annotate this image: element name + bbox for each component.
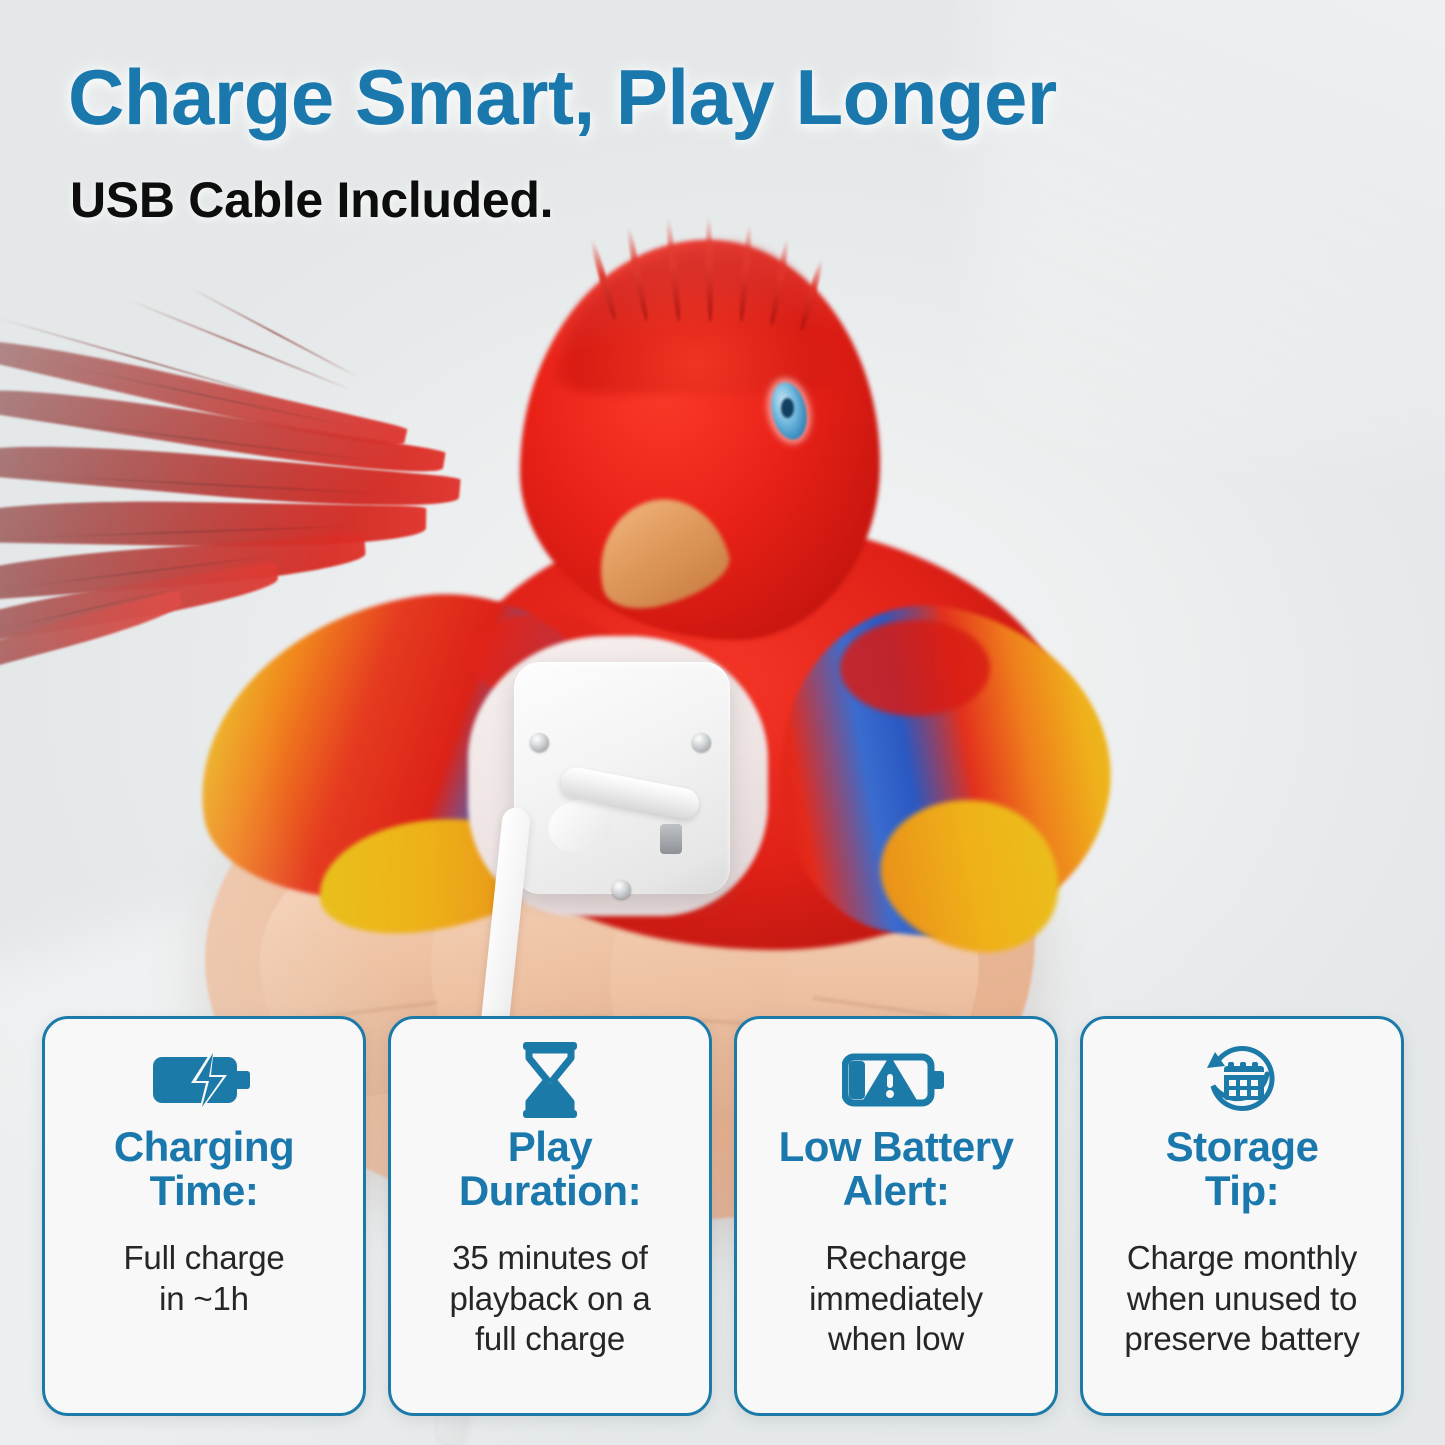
hourglass-icon xyxy=(515,1041,585,1119)
parrot-pupil xyxy=(781,398,794,418)
calendar-refresh-icon xyxy=(1201,1041,1283,1119)
product-infographic: Charge Smart, Play Longer USB Cable Incl… xyxy=(0,0,1445,1445)
battery-charging-icon xyxy=(151,1041,257,1119)
screw xyxy=(612,880,631,899)
card-body: 35 minutes of playback on a full charge xyxy=(445,1238,654,1359)
card-body: Recharge immediately when low xyxy=(805,1238,987,1359)
screw xyxy=(530,733,549,752)
card-body: Charge monthly when unused to preserve b… xyxy=(1120,1238,1363,1359)
battery-warning-icon xyxy=(842,1041,950,1119)
card-title: Storage Tip: xyxy=(1162,1125,1323,1212)
card-body: Full charge in ~1h xyxy=(119,1238,288,1319)
card-title: Low Battery Alert: xyxy=(775,1125,1018,1212)
card-title: Charging Time: xyxy=(110,1125,298,1212)
screw xyxy=(692,733,711,752)
feature-card-row: Charging Time: Full charge in ~1h Play D xyxy=(42,1016,1404,1416)
card-title: Play Duration: xyxy=(455,1125,645,1212)
feature-card-storage-tip: Storage Tip: Charge monthly when unused … xyxy=(1080,1016,1404,1416)
page-subtitle: USB Cable Included. xyxy=(70,175,1170,225)
feature-card-play-duration: Play Duration: 35 minutes of playback on… xyxy=(388,1016,712,1416)
page-title: Charge Smart, Play Longer xyxy=(68,58,1388,136)
charging-port xyxy=(660,824,682,854)
feature-card-charging-time: Charging Time: Full charge in ~1h xyxy=(42,1016,366,1416)
feature-card-low-battery-alert: Low Battery Alert: Recharge immediately … xyxy=(734,1016,1058,1416)
